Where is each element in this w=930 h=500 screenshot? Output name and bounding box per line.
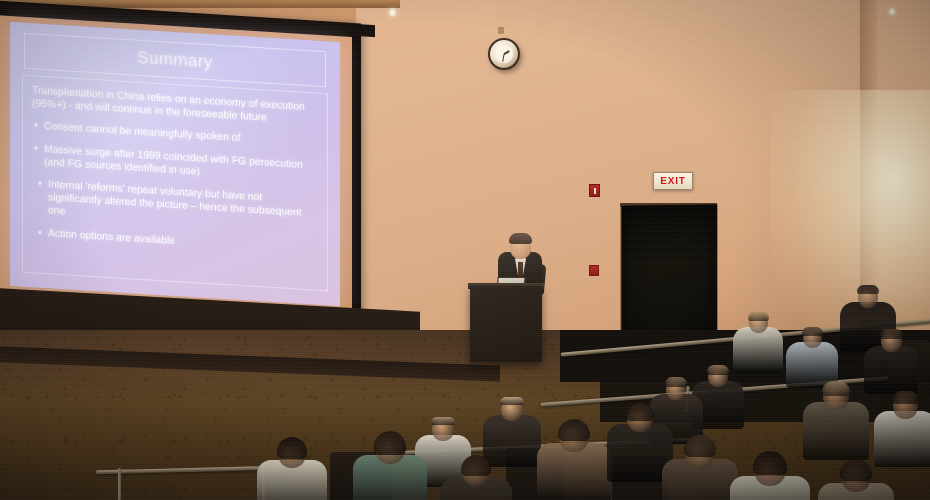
projected-slide: Summary Transplantation in China relies … [10, 22, 340, 306]
audience-member-hair [753, 451, 787, 475]
wall-clock [488, 38, 520, 70]
audience-member-hair [431, 417, 455, 425]
exit-sign-label: EXIT [660, 176, 685, 187]
audience-member [730, 452, 810, 500]
slide-bullet-3: Internal 'reforms' repeat voluntary but … [32, 177, 318, 234]
audience-member-hair [892, 391, 919, 404]
audience-member-torso [803, 402, 869, 460]
fire-alarm-handle [594, 188, 596, 194]
audience-member-hair [822, 381, 850, 396]
audience-member-hair [802, 327, 823, 336]
audience-member [257, 438, 327, 500]
audience-member-hair [277, 437, 307, 459]
audience-member [662, 436, 738, 500]
lecture-hall-photo: EXIT Summary Transplantation in China re… [0, 0, 930, 500]
audience-member-hair [707, 365, 729, 375]
recessed-ceiling-light [389, 8, 396, 17]
audience-member-torso [864, 346, 918, 394]
speaker-hair [509, 233, 532, 244]
fire-alarm-pull-station-lower [589, 265, 599, 276]
exit-sign: EXIT [653, 172, 693, 190]
slide-body-box: Transplantation in China relies on an ec… [22, 75, 328, 292]
audience-member-hair [840, 459, 872, 481]
speaker-tie [518, 262, 523, 278]
lectern [470, 286, 542, 362]
clock-minute-hand [502, 54, 505, 62]
recessed-ceiling-light-right [889, 8, 895, 15]
audience-member-hair [626, 403, 654, 421]
audience-member-hair [665, 377, 687, 387]
slide-title: Summary [137, 48, 213, 73]
audience-member [818, 460, 894, 500]
handrail-post-left [118, 468, 121, 500]
audience-member [440, 456, 512, 500]
audience-member-hair [748, 311, 769, 321]
audience-member-hair [558, 419, 590, 441]
audience-member-hair [684, 435, 716, 457]
audience-member-hair [857, 285, 879, 294]
audience-member-hair [880, 329, 903, 339]
audience-member-hair [500, 397, 524, 405]
fire-alarm-pull-station [589, 184, 600, 197]
clock-face [495, 45, 513, 63]
clock-mount [498, 27, 504, 34]
audience-member [537, 420, 611, 500]
audience-member-hair [374, 431, 406, 455]
audience-member-hair [461, 455, 491, 476]
audience-member [864, 330, 918, 400]
audience-member [803, 382, 869, 468]
audience-member [353, 432, 427, 500]
wall-corner-column [860, 0, 878, 330]
